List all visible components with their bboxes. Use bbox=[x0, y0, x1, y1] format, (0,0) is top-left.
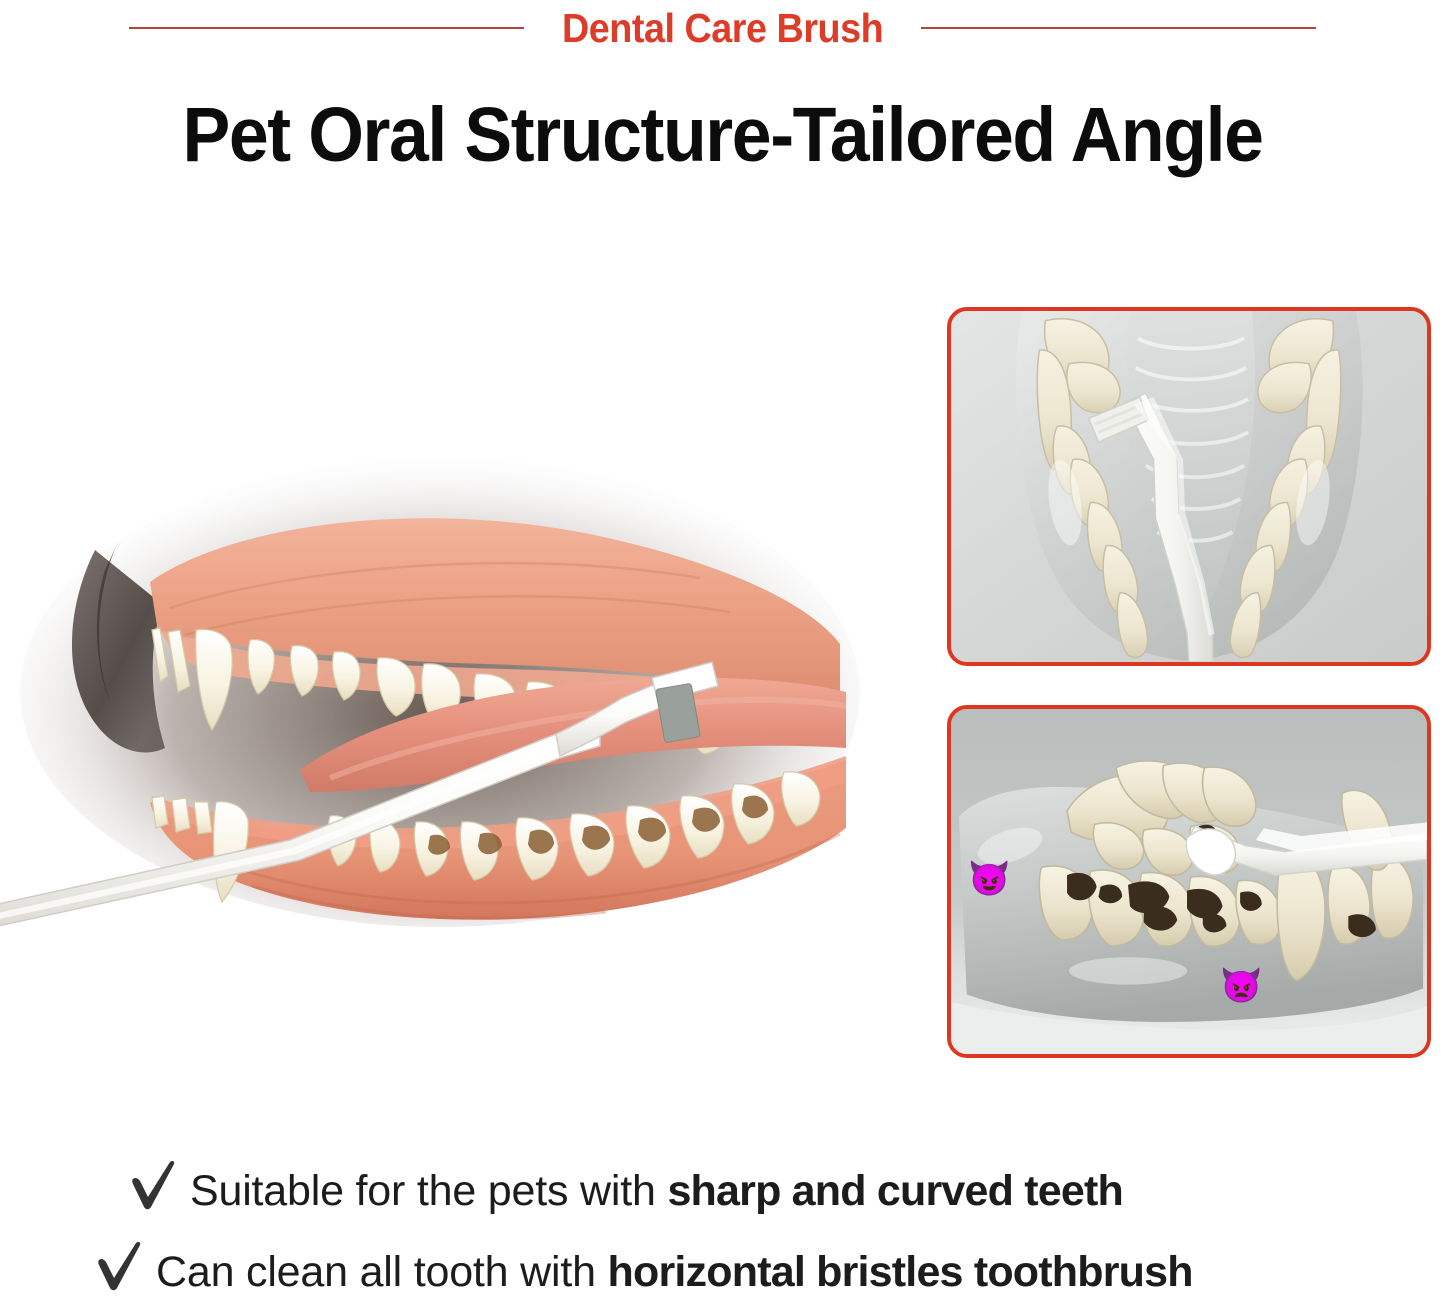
check-icon bbox=[96, 1242, 142, 1292]
divider-line-left bbox=[129, 27, 524, 29]
eyebrow-header-row: Dental Care Brush bbox=[0, 0, 1445, 56]
list-item-text: Suitable for the pets with sharp and cur… bbox=[190, 1169, 1123, 1214]
photo-upper-jaw-model bbox=[947, 307, 1431, 666]
devil-emoji-smiling: 😈 bbox=[968, 862, 1010, 896]
list-item-text: Can clean all tooth with horizontal bris… bbox=[156, 1250, 1193, 1295]
bullet-plain-text: Suitable for the pets with bbox=[190, 1167, 667, 1215]
check-icon bbox=[130, 1161, 176, 1211]
devil-emoji-angry: 👿 bbox=[1220, 969, 1262, 1003]
divider-line-right bbox=[921, 27, 1316, 29]
eyebrow-title: Dental Care Brush bbox=[562, 8, 883, 49]
bullet-bold-text: horizontal bristles toothbrush bbox=[608, 1248, 1193, 1296]
feature-bullet-list: Suitable for the pets with sharp and cur… bbox=[0, 1155, 1445, 1295]
page-title: Pet Oral Structure-Tailored Angle bbox=[51, 97, 1395, 174]
dog-open-mouth-illustration bbox=[0, 430, 900, 930]
photo-lower-jaw-image bbox=[951, 709, 1427, 1054]
photo-upper-jaw-image bbox=[951, 311, 1427, 662]
list-item: Can clean all tooth with horizontal bris… bbox=[0, 1236, 1445, 1295]
bullet-bold-text: sharp and curved teeth bbox=[667, 1167, 1123, 1215]
list-item: Suitable for the pets with sharp and cur… bbox=[0, 1155, 1445, 1214]
photo-lower-jaw-model bbox=[947, 705, 1431, 1058]
bullet-plain-text: Can clean all tooth with bbox=[156, 1248, 608, 1296]
